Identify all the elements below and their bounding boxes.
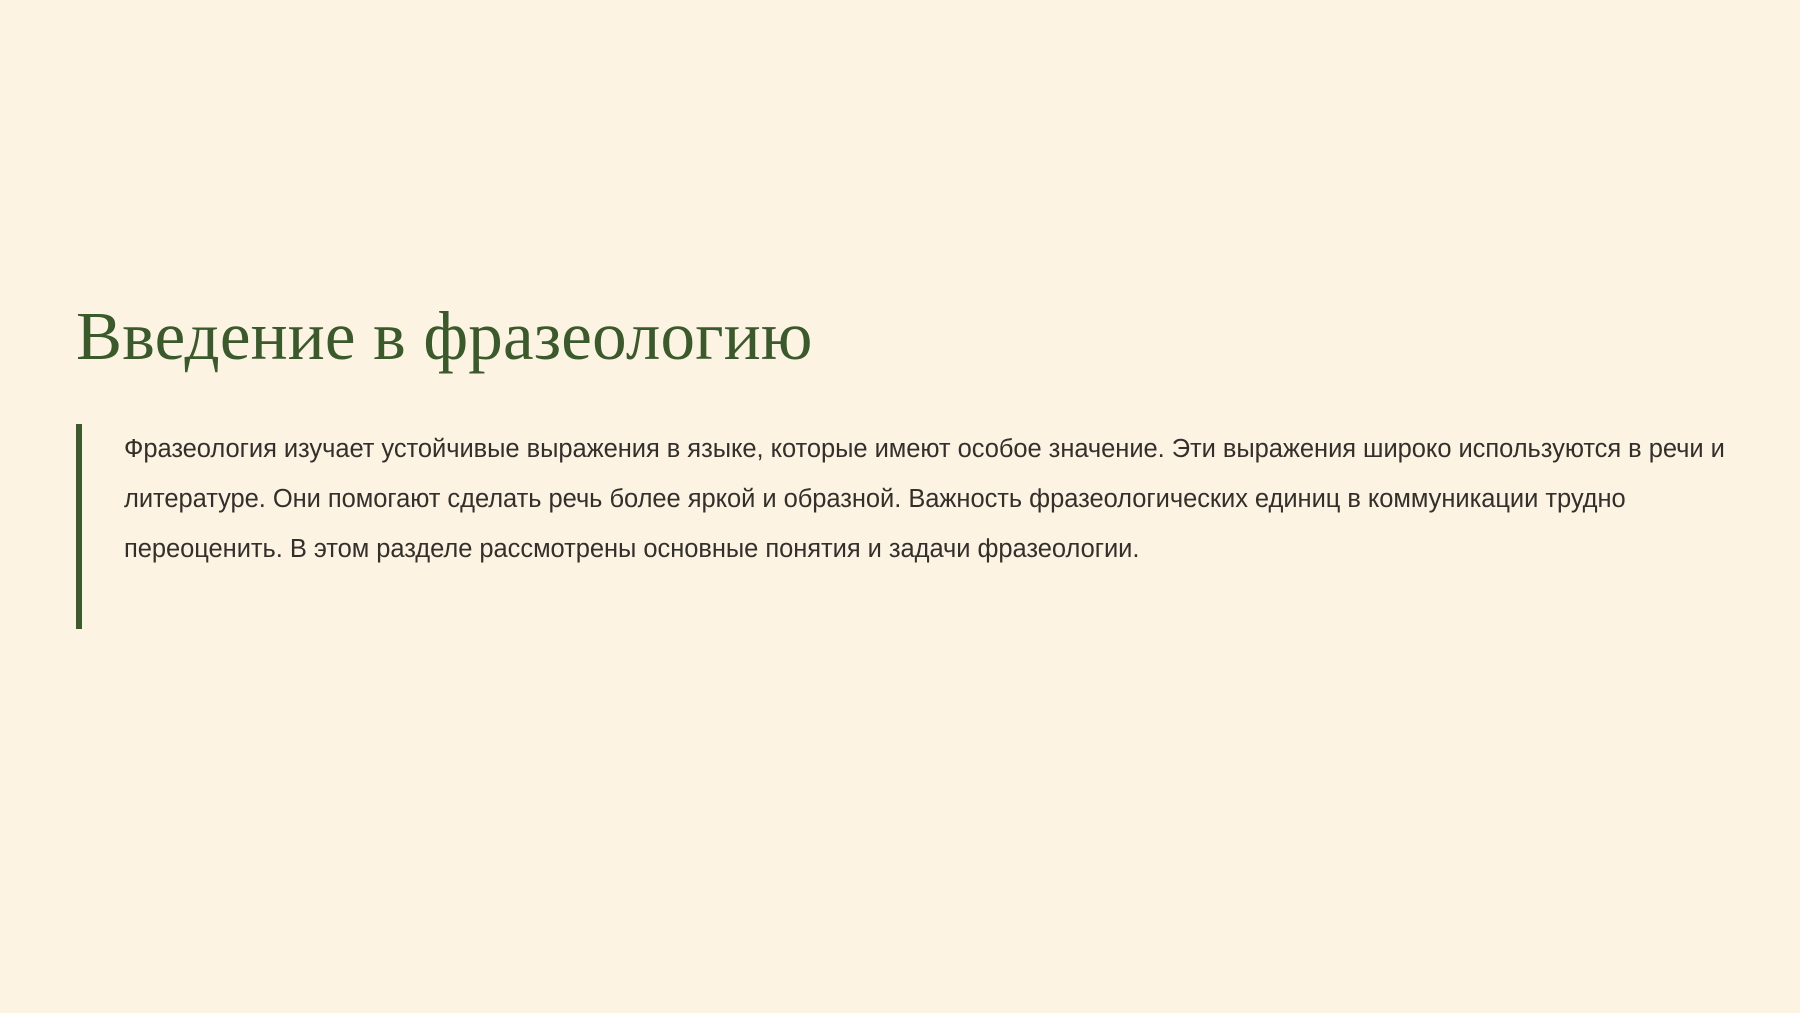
slide-page: Введение в фразеологию Фразеология изуча… [0, 0, 1800, 1013]
accent-bar [76, 424, 82, 629]
page-title: Введение в фразеологию [76, 300, 1736, 373]
body-paragraph: Фразеология изучает устойчивые выражения… [124, 424, 1744, 574]
content-container: Введение в фразеологию Фразеология изуча… [76, 300, 1736, 574]
quote-block: Фразеология изучает устойчивые выражения… [76, 424, 1736, 574]
